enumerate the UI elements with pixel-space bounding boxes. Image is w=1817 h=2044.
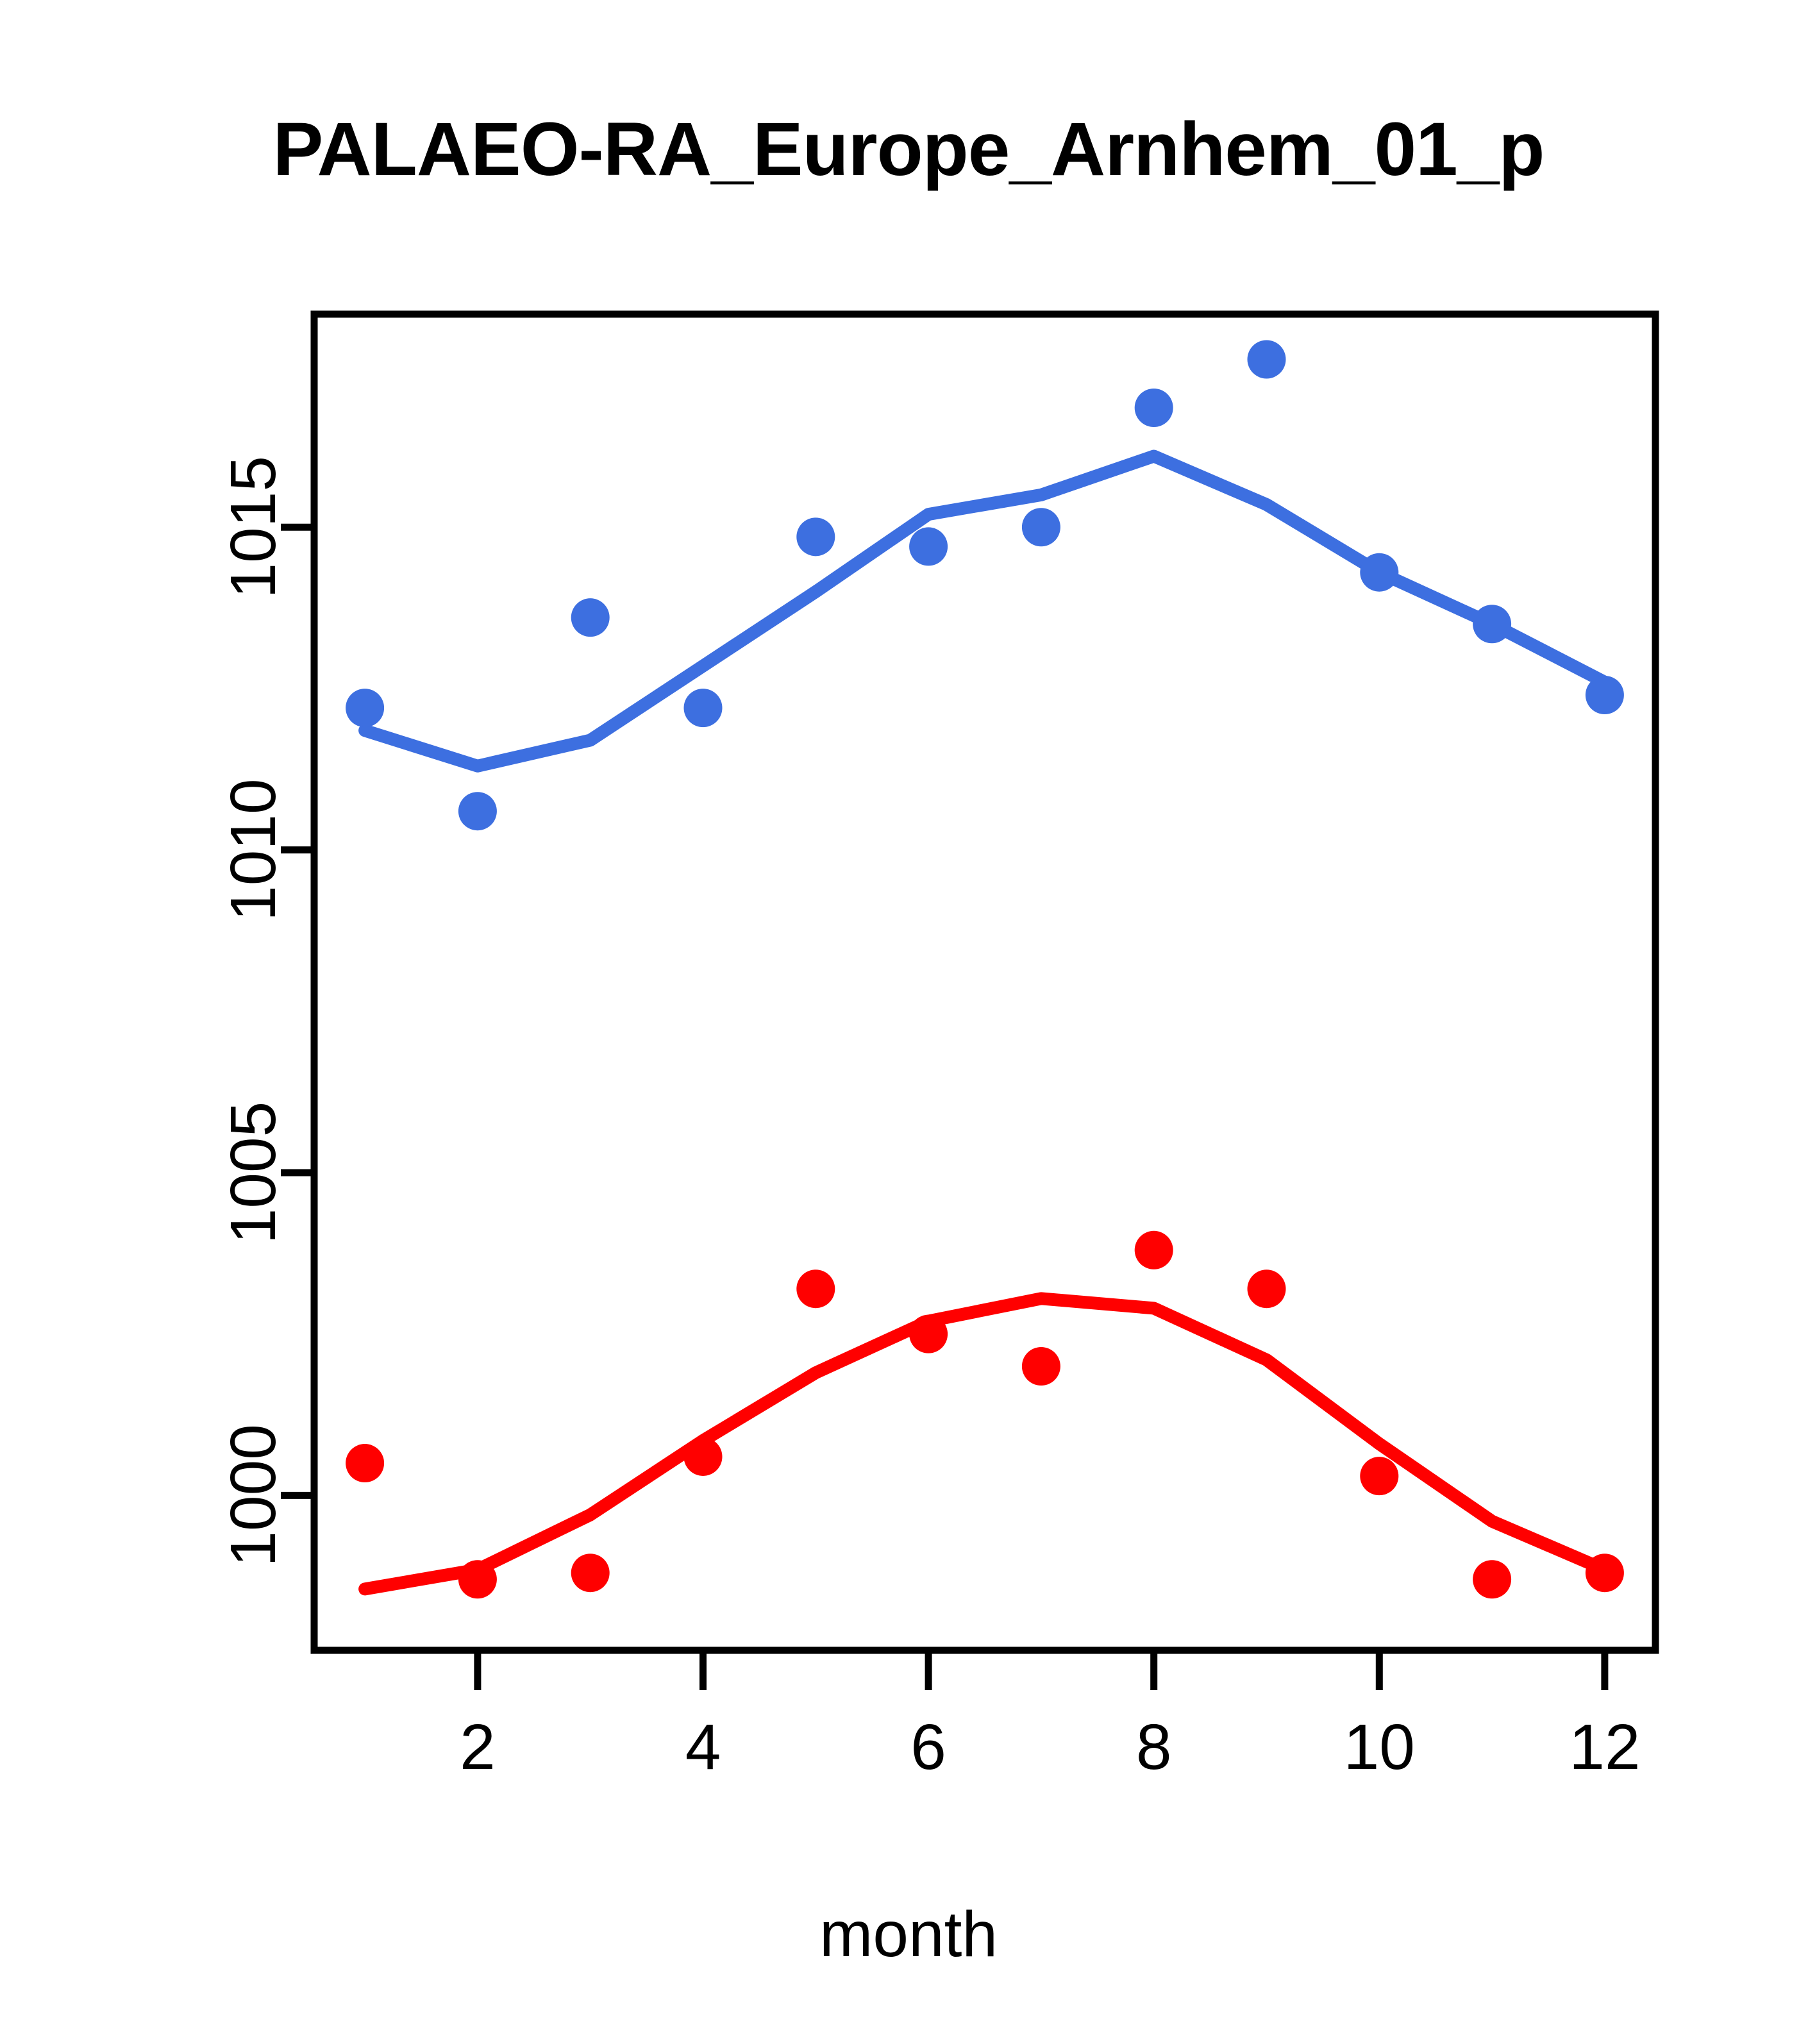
blue-smooth-line: [365, 456, 1605, 766]
data-point: [1586, 1554, 1624, 1592]
data-point: [684, 689, 723, 727]
data-point: [1360, 1457, 1398, 1495]
x-tick-label: 6: [910, 1711, 946, 1783]
x-tick-label: 4: [685, 1711, 721, 1783]
x-axis-title: month: [0, 1898, 1817, 1972]
plot-border: [314, 314, 1655, 1650]
data-point: [1360, 553, 1398, 592]
x-tick-label: 12: [1569, 1711, 1640, 1783]
data-point: [1473, 1560, 1511, 1598]
y-tick-label: 1010: [217, 778, 289, 921]
y-tick-label: 1015: [217, 456, 289, 598]
data-point: [1586, 676, 1624, 714]
data-point: [1247, 340, 1285, 378]
data-point: [571, 1554, 610, 1592]
data-point: [1022, 1347, 1060, 1386]
chart-page: PALAEO-RA_Europe_Arnhem_01_p 10001005101…: [0, 0, 1817, 2044]
x-tick-label: 10: [1344, 1711, 1415, 1783]
data-point: [909, 527, 948, 565]
data-point: [346, 689, 384, 727]
data-point: [1022, 508, 1060, 546]
data-point: [1473, 605, 1511, 643]
data-point: [1247, 1269, 1285, 1308]
data-point: [1135, 389, 1173, 427]
x-tick-label: 2: [460, 1711, 496, 1783]
data-point: [796, 1269, 835, 1308]
data-point: [346, 1444, 384, 1482]
data-point: [796, 517, 835, 556]
red-smooth-line: [365, 1298, 1605, 1589]
data-series-group: [346, 340, 1624, 1598]
x-axis: 24681012: [460, 1650, 1640, 1783]
data-point: [458, 792, 497, 830]
y-tick-label: 1000: [217, 1424, 289, 1566]
data-point: [684, 1437, 723, 1476]
y-axis: 1000100510101015: [217, 456, 314, 1567]
plot-frame: [314, 314, 1655, 1650]
data-point: [571, 598, 610, 637]
x-tick-label: 8: [1136, 1711, 1172, 1783]
chart-canvas: 1000100510101015 24681012: [0, 0, 1817, 2044]
data-point: [1135, 1231, 1173, 1269]
data-point: [909, 1315, 948, 1353]
data-point: [458, 1560, 497, 1598]
y-tick-label: 1005: [217, 1102, 289, 1244]
